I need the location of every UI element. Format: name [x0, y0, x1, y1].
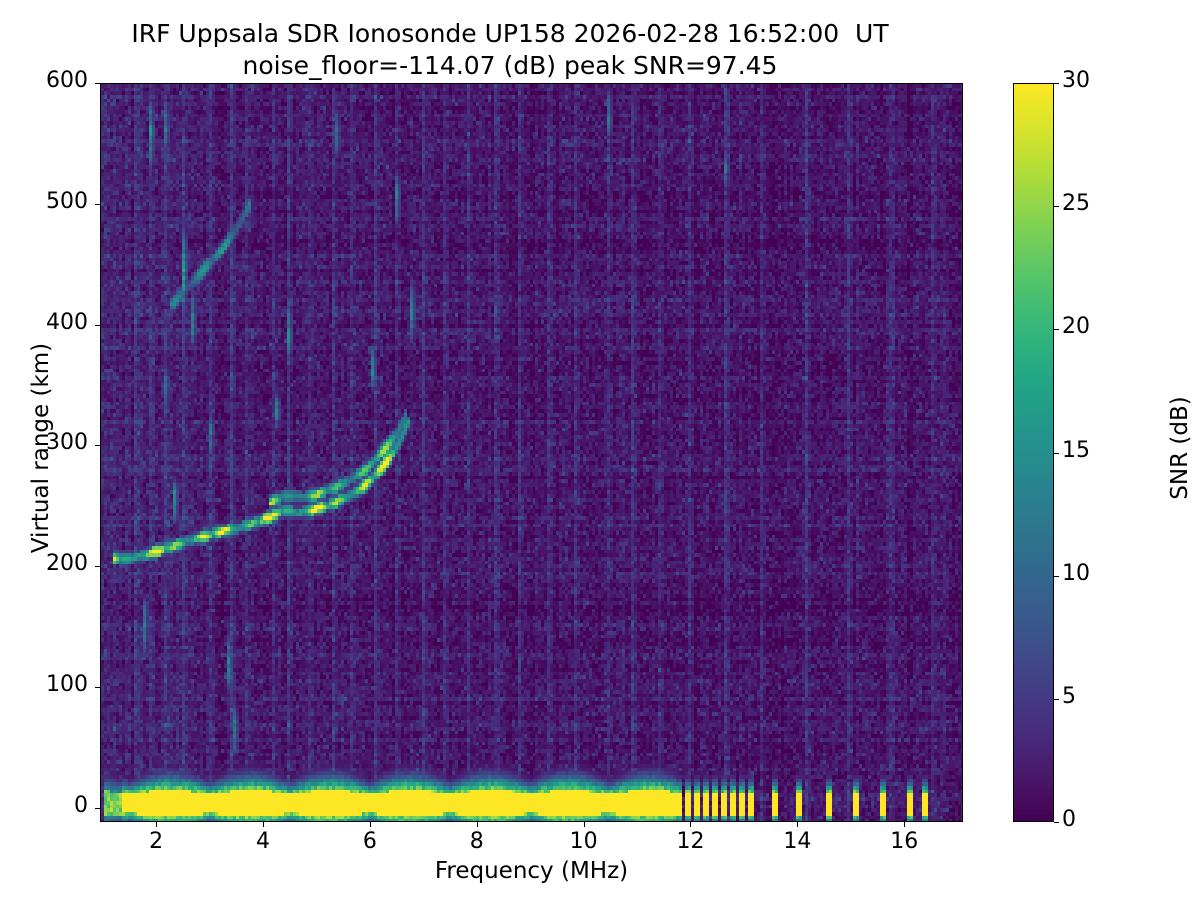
y-tick-mark [95, 566, 100, 567]
colorbar-tick-mark [1054, 83, 1059, 84]
x-tick-label: 4 [223, 829, 303, 854]
y-tick-mark [95, 325, 100, 326]
x-tick-label: 14 [757, 829, 837, 854]
y-tick-mark [95, 204, 100, 205]
x-tick-mark [477, 822, 478, 827]
y-tick-label: 0 [10, 793, 88, 818]
title-line-2: noise_floor=-114.07 (dB) peak SNR=97.45 [0, 50, 1020, 82]
title-line-1: IRF Uppsala SDR Ionosonde UP158 2026-02-… [0, 18, 1020, 50]
x-tick-label: 8 [437, 829, 517, 854]
x-tick-mark [690, 822, 691, 827]
colorbar-tick-label: 20 [1062, 314, 1090, 339]
x-tick-mark [797, 822, 798, 827]
colorbar-tick-label: 15 [1062, 438, 1090, 463]
x-tick-mark [370, 822, 371, 827]
y-tick-label: 100 [10, 672, 88, 697]
x-tick-label: 6 [330, 829, 410, 854]
y-tick-mark [95, 445, 100, 446]
x-tick-label: 10 [544, 829, 624, 854]
ionogram-figure: IRF Uppsala SDR Ionosonde UP158 2026-02-… [0, 0, 1200, 900]
y-tick-mark [95, 808, 100, 809]
x-tick-mark [584, 822, 585, 827]
y-tick-label: 500 [10, 189, 88, 214]
colorbar-gradient [1014, 84, 1053, 821]
colorbar-tick-mark [1054, 576, 1059, 577]
y-tick-mark [95, 687, 100, 688]
x-tick-mark [904, 822, 905, 827]
colorbar-tick-label: 10 [1062, 561, 1090, 586]
ionogram-heatmap [101, 84, 963, 822]
colorbar-tick-mark [1054, 699, 1059, 700]
colorbar-tick-mark [1054, 453, 1059, 454]
figure-title: IRF Uppsala SDR Ionosonde UP158 2026-02-… [0, 18, 1020, 82]
colorbar-tick-mark [1054, 822, 1059, 823]
x-tick-label: 2 [116, 829, 196, 854]
y-axis-label: Virtual range (km) [28, 268, 54, 628]
y-tick-label: 600 [10, 68, 88, 93]
colorbar-label: SNR (dB) [1167, 268, 1193, 628]
colorbar-tick-mark [1054, 206, 1059, 207]
x-tick-mark [263, 822, 264, 827]
y-tick-mark [95, 83, 100, 84]
x-tick-mark [156, 822, 157, 827]
colorbar[interactable] [1013, 83, 1054, 822]
colorbar-tick-label: 25 [1062, 191, 1090, 216]
colorbar-tick-mark [1054, 329, 1059, 330]
colorbar-tick-label: 5 [1062, 684, 1076, 709]
x-tick-label: 12 [650, 829, 730, 854]
colorbar-tick-label: 0 [1062, 807, 1076, 832]
x-tick-label: 16 [864, 829, 944, 854]
colorbar-tick-label: 30 [1062, 68, 1090, 93]
ionogram-plot-area[interactable] [100, 83, 963, 822]
x-axis-label: Frequency (MHz) [100, 858, 963, 884]
